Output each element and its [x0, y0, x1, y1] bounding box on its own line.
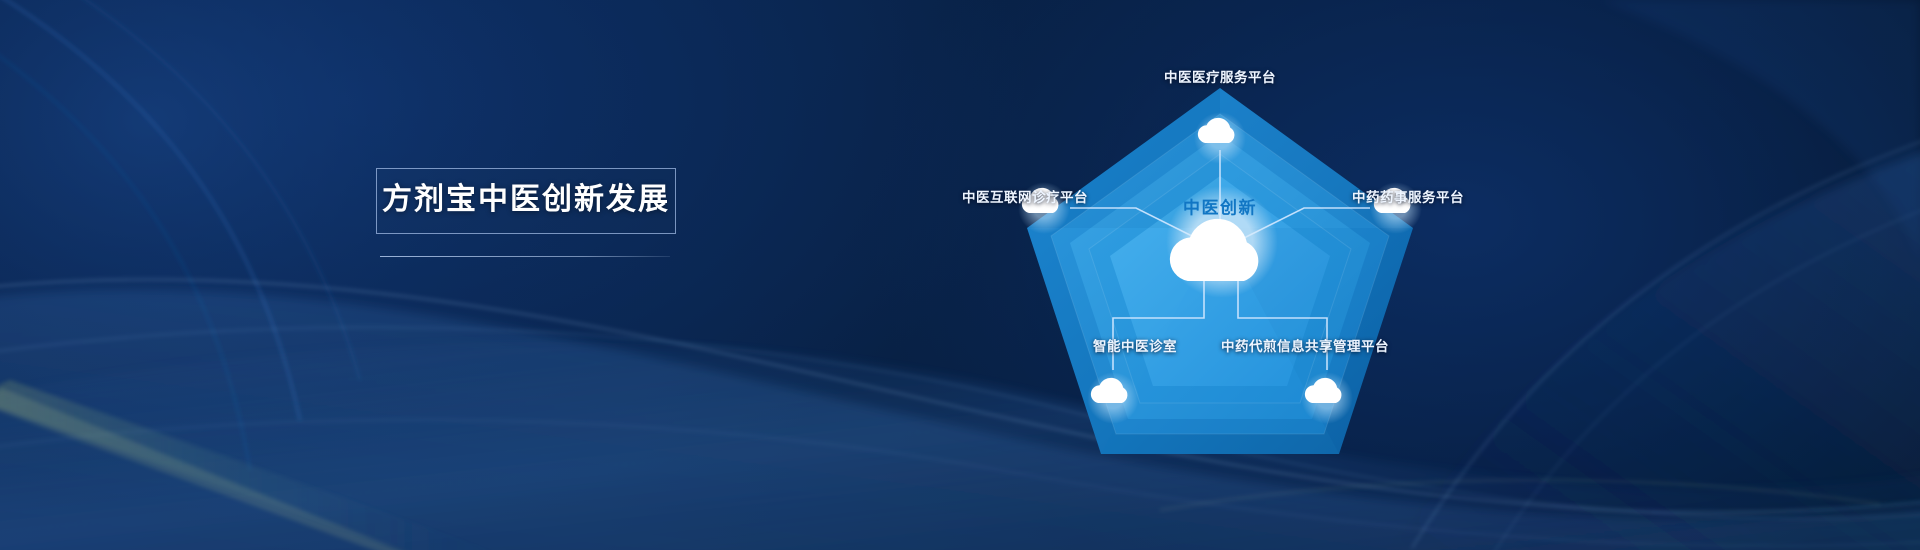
headline-underline — [380, 256, 670, 257]
node-top[interactable] — [1194, 112, 1246, 164]
headline-frame: 方剂宝中医创新发展 — [376, 168, 676, 234]
page-title: 方剂宝中医创新发展 — [377, 183, 675, 217]
node-lower-right[interactable] — [1301, 372, 1353, 424]
node-lower-left[interactable] — [1087, 372, 1139, 424]
headline-block: 方剂宝中医创新发展 — [376, 168, 676, 257]
node-label-top: 中医医疗服务平台 — [1164, 66, 1276, 86]
node-label-lower-right: 中药代煎信息共享管理平台 — [1221, 335, 1389, 355]
pentagon-diagram-svg — [960, 30, 1480, 430]
node-label-upper-left: 中医互联网诊疗平台 — [962, 186, 1088, 206]
node-label-upper-right: 中药药事服务平台 — [1352, 186, 1464, 206]
node-label-lower-left: 智能中医诊室 — [1093, 335, 1177, 355]
pentagon-diagram: 中医医疗服务平台 中医互联网诊疗平台 中药药事服务平台 智能中医诊室 中药代煎信… — [960, 30, 1480, 430]
banner-root: 方剂宝中医创新发展 — [0, 0, 1920, 550]
center-node[interactable] — [1166, 186, 1278, 298]
